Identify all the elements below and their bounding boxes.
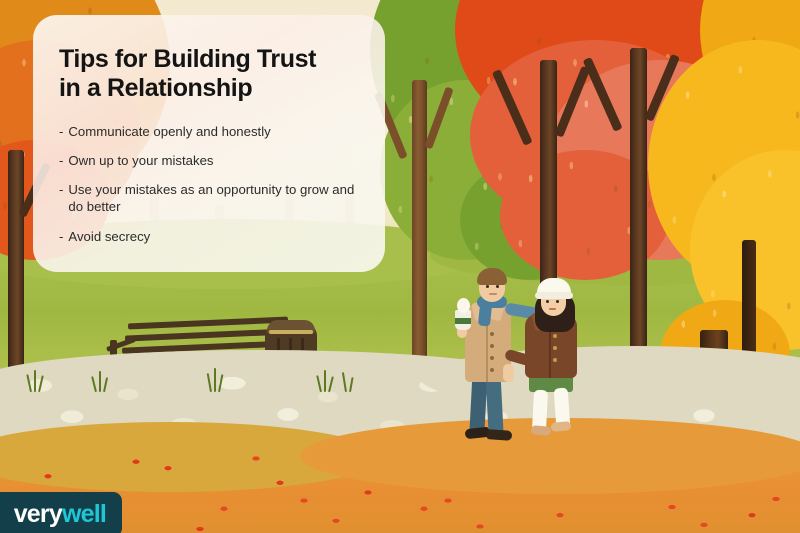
man-shoe-right [487,429,513,441]
tree-trunk-center-right [630,48,647,348]
woman-coat-seam [549,328,551,378]
tip-text: Use your mistakes as an opportunity to g… [68,182,359,216]
woman-boot-heel-left [531,425,552,436]
woman-coat-button [553,358,557,362]
man-hair [477,268,507,285]
woman-mouth [549,308,556,310]
bullet-dash: - [59,229,63,246]
woman-hat-brim [535,292,573,299]
man-scarf-tail [478,303,492,326]
man-coat-button [490,356,494,360]
tip-text: Avoid secrecy [68,229,359,246]
tip-item-4: - Avoid secrecy [59,229,359,246]
illustration-card-image: Tips for Building Trust in a Relationshi… [0,0,800,533]
tip-item-1: - Communicate openly and honestly [59,124,359,141]
coffee-steam [457,298,470,313]
title-line-2: in a Relationship [59,74,359,103]
logo-well: well [62,500,106,528]
tip-item-3: - Use your mistakes as an opportunity to… [59,182,359,216]
bullet-dash: - [59,153,63,170]
tip-text: Communicate openly and honestly [68,124,359,141]
tips-card: Tips for Building Trust in a Relationshi… [33,15,385,272]
logo-wordmark: verywell [14,502,106,527]
grass-tufts [0,352,800,392]
woman-eye-right [556,300,559,303]
man-eye-right [496,285,499,288]
man-shoe-left [465,427,490,439]
verywell-logo: verywell [0,492,122,533]
woman-figure [517,278,595,448]
title-line-1: Tips for Building Trust [59,45,359,74]
man-coat-button [490,368,494,372]
man-mouth [489,293,497,295]
coffee-cup-band [455,318,471,324]
tip-item-2: - Own up to your mistakes [59,153,359,170]
woman-coat-button [553,334,557,338]
woman-hand-left [503,364,514,376]
woman-boot-heel-right [551,421,572,432]
man-coat-button [490,344,494,348]
page-title: Tips for Building Trust in a Relationshi… [59,45,359,104]
bullet-dash: - [59,124,63,141]
logo-very: very [14,500,62,528]
couple-walking [455,262,595,447]
tip-text: Own up to your mistakes [68,153,359,170]
woman-coat-button [553,346,557,350]
bullet-dash: - [59,182,63,216]
man-eye-left [486,285,489,288]
tree-trunk-green [412,80,427,380]
woman-eye-left [546,300,549,303]
man-coat-button [490,332,494,336]
man-coat-seam [486,324,488,382]
